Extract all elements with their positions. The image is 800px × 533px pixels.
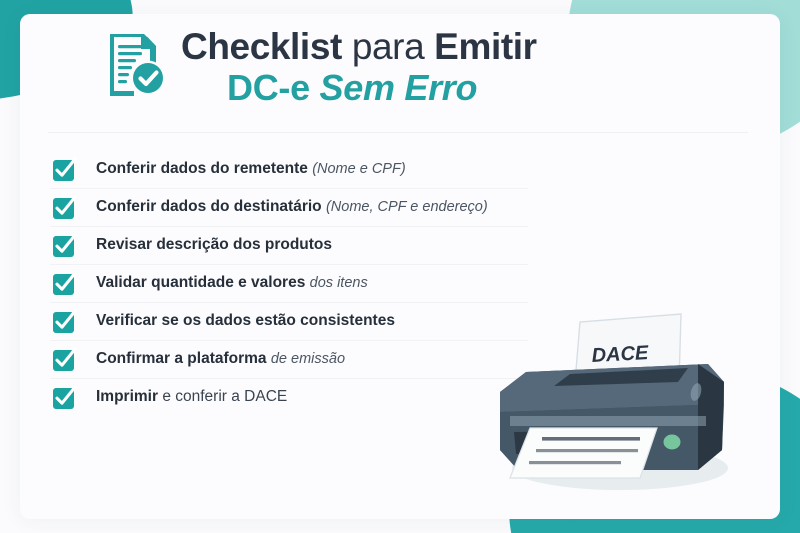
checkbox-checked-icon[interactable] — [52, 385, 77, 410]
list-item-strong: Confirmar a plataforma — [96, 350, 267, 367]
list-item-strong: Verificar se os dados estão consistentes — [96, 312, 395, 329]
checkbox-checked-icon[interactable] — [52, 347, 77, 372]
list-item-muted: dos itens — [310, 275, 368, 291]
page-title-line-2: DC-e Sem Erro — [227, 67, 537, 109]
printer-top-face — [500, 364, 724, 412]
printer-trim-line — [510, 416, 706, 426]
poster-canvas: Checklist para Emitir DC-e Sem Erro Conf… — [0, 0, 800, 533]
printer-illustration: DACE — [492, 300, 742, 500]
list-item-label: Revisar descrição dos produtos — [96, 236, 332, 254]
checkbox-checked-icon[interactable] — [52, 271, 77, 296]
list-item[interactable]: Conferir dados do remetente (Nome e CPF) — [48, 150, 748, 188]
page-title-line-1: Checklist para Emitir — [181, 26, 537, 67]
checkbox-checked-icon[interactable] — [52, 195, 77, 220]
list-item[interactable]: Validar quantidade e valores dos itens — [48, 264, 748, 302]
header: Checklist para Emitir DC-e Sem Erro — [105, 22, 665, 127]
checkbox-checked-icon[interactable] — [52, 157, 77, 182]
title-word-dce: DC-e — [227, 67, 310, 108]
status-light-green — [664, 435, 681, 450]
header-divider — [48, 132, 748, 133]
list-item-muted: (Nome, CPF e endereço) — [326, 199, 488, 215]
list-item-label: Conferir dados do destinatário (Nome, CP… — [96, 198, 488, 216]
title-word-sem-erro: Sem Erro — [320, 67, 478, 108]
list-item-plain: e conferir a DACE — [162, 388, 287, 405]
list-item-muted: (Nome e CPF) — [312, 161, 405, 177]
title-block: Checklist para Emitir DC-e Sem Erro — [181, 22, 537, 109]
list-item-strong: Conferir dados do remetente — [96, 160, 308, 177]
list-item-label: Confirmar a plataforma de emissão — [96, 350, 345, 368]
title-word-emitir: Emitir — [434, 26, 536, 67]
title-word-para: para — [352, 26, 424, 67]
list-item-label: Verificar se os dados estão consistentes — [96, 312, 395, 330]
list-item-strong: Validar quantidade e valores — [96, 274, 305, 291]
list-item-strong: Revisar descrição dos produtos — [96, 236, 332, 253]
list-item-label: Conferir dados do remetente (Nome e CPF) — [96, 160, 406, 178]
checkbox-checked-icon[interactable] — [52, 233, 77, 258]
list-item[interactable]: Revisar descrição dos produtos — [48, 226, 748, 264]
checkbox-checked-icon[interactable] — [52, 309, 77, 334]
list-item-strong: Imprimir — [96, 388, 158, 405]
list-item-label: Imprimir e conferir a DACE — [96, 388, 287, 406]
dace-label: DACE — [591, 342, 649, 367]
title-word-checklist: Checklist — [181, 26, 342, 67]
document-check-icon — [105, 30, 167, 100]
list-item-muted: de emissão — [271, 351, 345, 367]
list-item[interactable]: Conferir dados do destinatário (Nome, CP… — [48, 188, 748, 226]
list-item-strong: Conferir dados do destinatário — [96, 198, 322, 215]
list-item-label: Validar quantidade e valores dos itens — [96, 274, 368, 292]
